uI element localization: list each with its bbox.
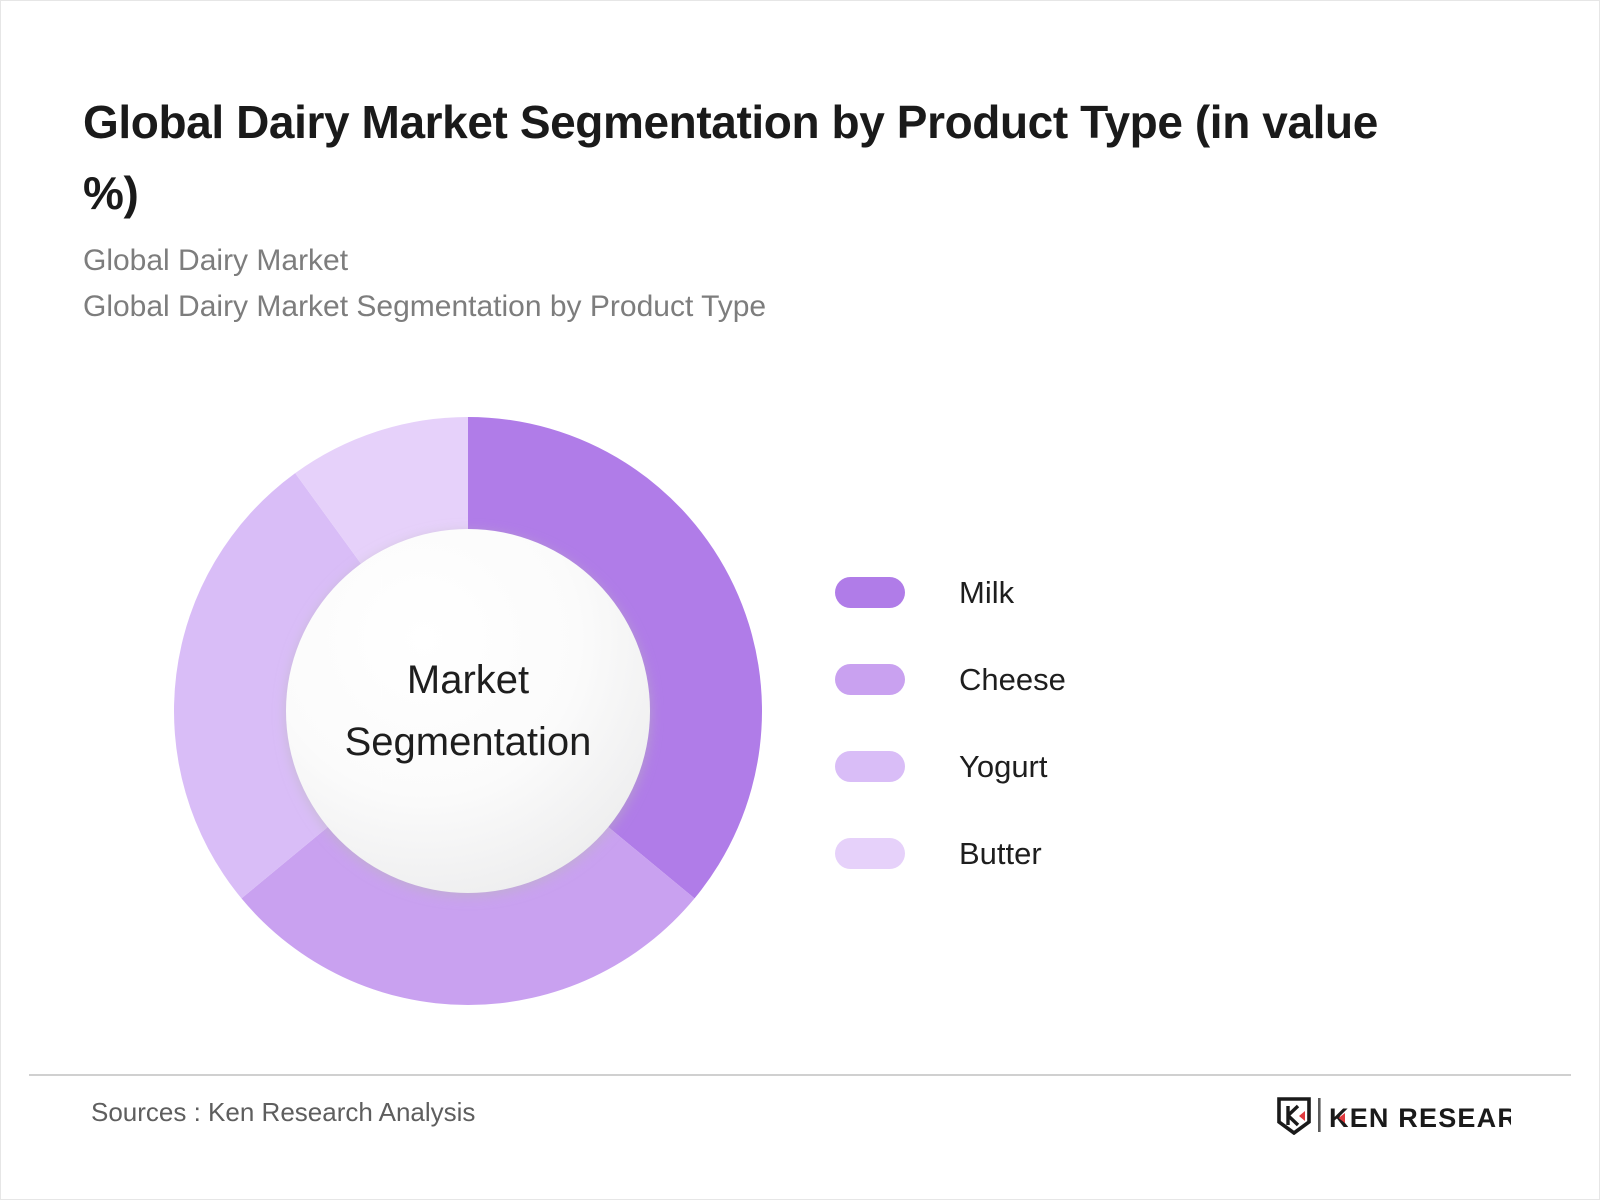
logo-divider-bar	[1318, 1098, 1321, 1132]
sources-note: Sources : Ken Research Analysis	[91, 1097, 475, 1128]
logo-red-triangle-icon	[1299, 1111, 1305, 1121]
legend-item-yogurt[interactable]: Yogurt	[835, 723, 1255, 810]
donut-svg	[174, 417, 762, 1005]
legend-swatch-cheese	[835, 664, 905, 695]
legend-label-yogurt: Yogurt	[959, 749, 1048, 785]
logo-k-glyph-icon	[1288, 1106, 1298, 1125]
ken-research-logo: KEN RESEARCH	[1275, 1094, 1511, 1136]
legend-item-milk[interactable]: Milk	[835, 549, 1255, 636]
subtitle-block: Global Dairy Market Global Dairy Market …	[83, 238, 1283, 329]
legend-swatch-butter	[835, 838, 905, 869]
legend-label-butter: Butter	[959, 836, 1042, 872]
donut-chart: Market Segmentation	[174, 417, 762, 1005]
ken-research-logo-svg: KEN RESEARCH	[1275, 1095, 1511, 1135]
donut-center-hole	[286, 529, 650, 893]
logo-wordmark: KEN RESEARCH	[1329, 1103, 1511, 1133]
legend-swatch-milk	[835, 577, 905, 608]
page-title: Global Dairy Market Segmentation by Prod…	[83, 87, 1423, 230]
legend-label-milk: Milk	[959, 575, 1014, 611]
slide-canvas: Global Dairy Market Segmentation by Prod…	[0, 0, 1600, 1200]
legend-item-butter[interactable]: Butter	[835, 810, 1255, 897]
subtitle-line-2: Global Dairy Market Segmentation by Prod…	[83, 284, 1283, 330]
chart-legend: MilkCheeseYogurtButter	[835, 549, 1255, 897]
chart-area: Market Segmentation MilkCheeseYogurtButt…	[1, 381, 1600, 1041]
subtitle-line-1: Global Dairy Market	[83, 238, 1283, 284]
legend-label-cheese: Cheese	[959, 662, 1066, 698]
legend-item-cheese[interactable]: Cheese	[835, 636, 1255, 723]
footer-divider	[29, 1074, 1571, 1076]
legend-swatch-yogurt	[835, 751, 905, 782]
